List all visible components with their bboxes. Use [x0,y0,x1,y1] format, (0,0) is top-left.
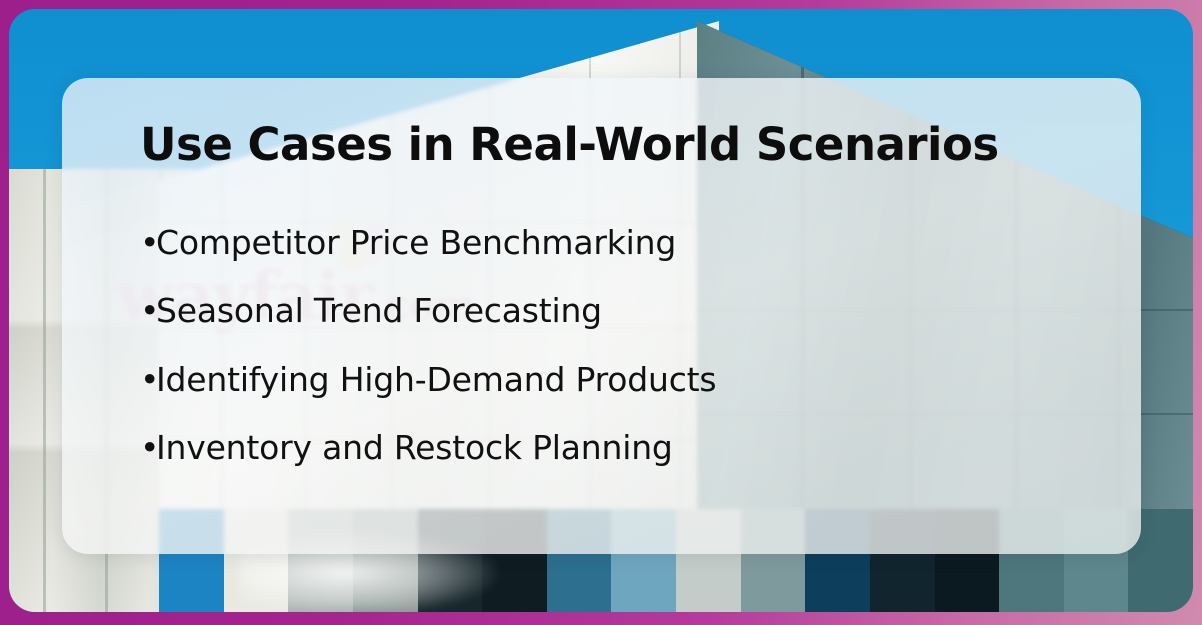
content-card-body: Use Cases in Real-World Scenarios • Comp… [62,78,1141,554]
list-item: • Competitor Price Benchmarking [140,226,1085,261]
list-item: • Inventory and Restock Planning [140,431,1085,466]
bullet-icon: • [140,431,156,464]
page-title: Use Cases in Real-World Scenarios [140,120,1085,170]
use-case-list: • Competitor Price Benchmarking • Season… [140,226,1085,467]
list-item: • Seasonal Trend Forecasting [140,294,1085,329]
list-item-label: Seasonal Trend Forecasting [156,294,1085,329]
list-item: • Identifying High-Demand Products [140,363,1085,398]
bullet-icon: • [140,363,156,396]
slide-canvas: wayfair.com Use Cases in Real-World Scen… [0,0,1202,625]
bullet-icon: • [140,294,156,327]
list-item-label: Identifying High-Demand Products [156,363,1085,398]
content-card: Use Cases in Real-World Scenarios • Comp… [62,78,1141,554]
bullet-icon: • [140,226,156,259]
list-item-label: Competitor Price Benchmarking [156,226,1085,261]
list-item-label: Inventory and Restock Planning [156,431,1085,466]
